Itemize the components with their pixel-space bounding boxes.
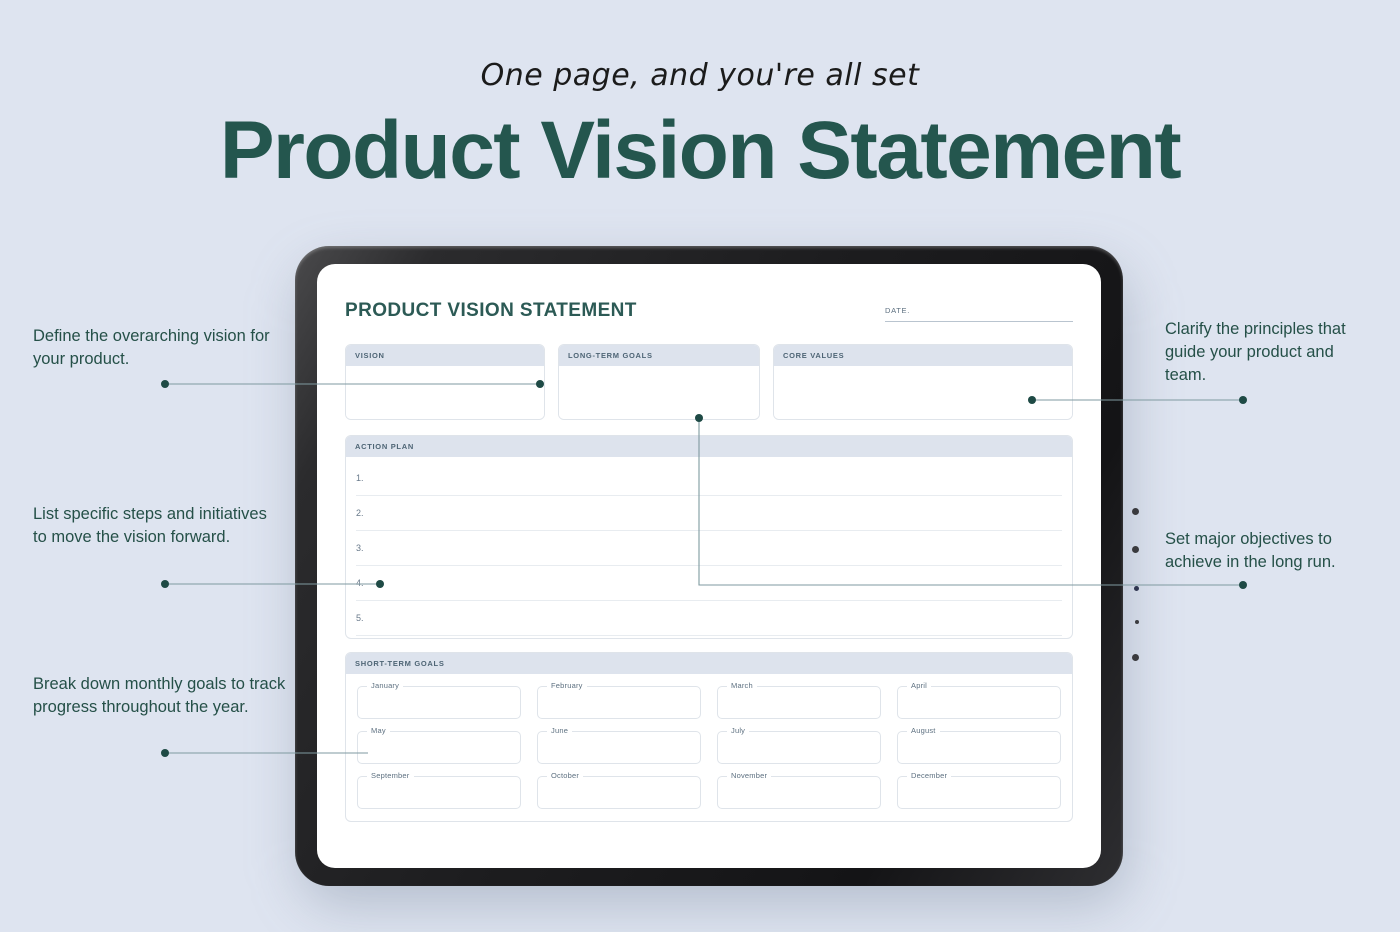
month-box[interactable]: June [537,731,701,764]
top-cards-row: VISION LONG-TERM GOALS CORE VALUES [345,344,1073,420]
bezel-button-icon[interactable] [1132,654,1139,661]
card-short-term-goals-label: SHORT-TERM GOALS [346,653,1072,674]
annotation-vision: Define the overarching vision for your p… [33,325,283,371]
month-box[interactable]: November [717,776,881,809]
card-vision[interactable]: VISION [345,344,545,420]
card-action-plan[interactable]: ACTION PLAN 1. 2. 3. 4. 5. [345,435,1073,639]
connector-dot [161,380,169,388]
annotation-core-values: Clarify the principles that guide your p… [1165,318,1375,386]
month-box[interactable]: May [357,731,521,764]
page-root: One page, and you're all set Product Vis… [0,0,1400,932]
month-label: June [547,726,572,735]
month-box[interactable]: September [357,776,521,809]
action-plan-item[interactable]: 5. [356,601,1062,636]
card-action-plan-label: ACTION PLAN [346,436,1072,457]
month-label: February [547,681,587,690]
month-box[interactable]: August [897,731,1061,764]
annotation-short-term-goals: Break down monthly goals to track progre… [33,673,288,719]
tablet-screen: PRODUCT VISION STATEMENT DATE. VISION LO… [317,264,1101,868]
hero-tagline: One page, and you're all set [0,58,1400,93]
month-label: March [727,681,757,690]
card-vision-body[interactable] [346,366,544,419]
date-field[interactable]: DATE. [885,306,1073,322]
month-box[interactable]: January [357,686,521,719]
date-label: DATE. [885,306,1073,315]
action-plan-item[interactable]: 3. [356,531,1062,566]
worksheet-document: PRODUCT VISION STATEMENT DATE. VISION LO… [317,264,1101,868]
bezel-button-icon[interactable] [1132,508,1139,515]
annotation-action-plan: List specific steps and initiatives to m… [33,503,278,549]
month-label: April [907,681,931,690]
card-short-term-goals[interactable]: SHORT-TERM GOALS January February March … [345,652,1073,822]
month-box[interactable]: April [897,686,1061,719]
connector-dot [1239,396,1247,404]
bezel-sensor-icon [1135,620,1139,624]
month-grid: January February March April May June Ju… [346,674,1072,821]
date-rule [885,321,1073,322]
month-label: May [367,726,390,735]
document-header: PRODUCT VISION STATEMENT DATE. [345,300,1073,322]
connector-dot [161,580,169,588]
card-core-values-body[interactable] [774,366,1072,419]
annotation-long-term-goals: Set major objectives to achieve in the l… [1165,528,1365,574]
card-long-term-goals[interactable]: LONG-TERM GOALS [558,344,760,420]
document-title: PRODUCT VISION STATEMENT [345,300,637,322]
page-title: Product Vision Statement [0,104,1400,198]
action-plan-item[interactable]: 4. [356,566,1062,601]
month-label: January [367,681,403,690]
action-plan-list: 1. 2. 3. 4. 5. [346,457,1072,638]
month-box[interactable]: July [717,731,881,764]
action-plan-item[interactable]: 2. [356,496,1062,531]
bezel-button-icon[interactable] [1132,546,1139,553]
card-core-values-label: CORE VALUES [774,345,1072,366]
month-box[interactable]: October [537,776,701,809]
month-label: August [907,726,940,735]
connector-dot [1239,581,1247,589]
month-label: November [727,771,771,780]
month-label: July [727,726,749,735]
tablet-device: PRODUCT VISION STATEMENT DATE. VISION LO… [295,246,1123,886]
card-long-term-goals-body[interactable] [559,366,759,419]
action-plan-item[interactable]: 1. [356,461,1062,496]
month-label: September [367,771,414,780]
month-label: December [907,771,951,780]
connector-dot [161,749,169,757]
bezel-sensor-icon [1134,586,1139,591]
month-box[interactable]: March [717,686,881,719]
card-core-values[interactable]: CORE VALUES [773,344,1073,420]
month-box[interactable]: February [537,686,701,719]
card-vision-label: VISION [346,345,544,366]
card-long-term-goals-label: LONG-TERM GOALS [559,345,759,366]
month-box[interactable]: December [897,776,1061,809]
month-label: October [547,771,583,780]
